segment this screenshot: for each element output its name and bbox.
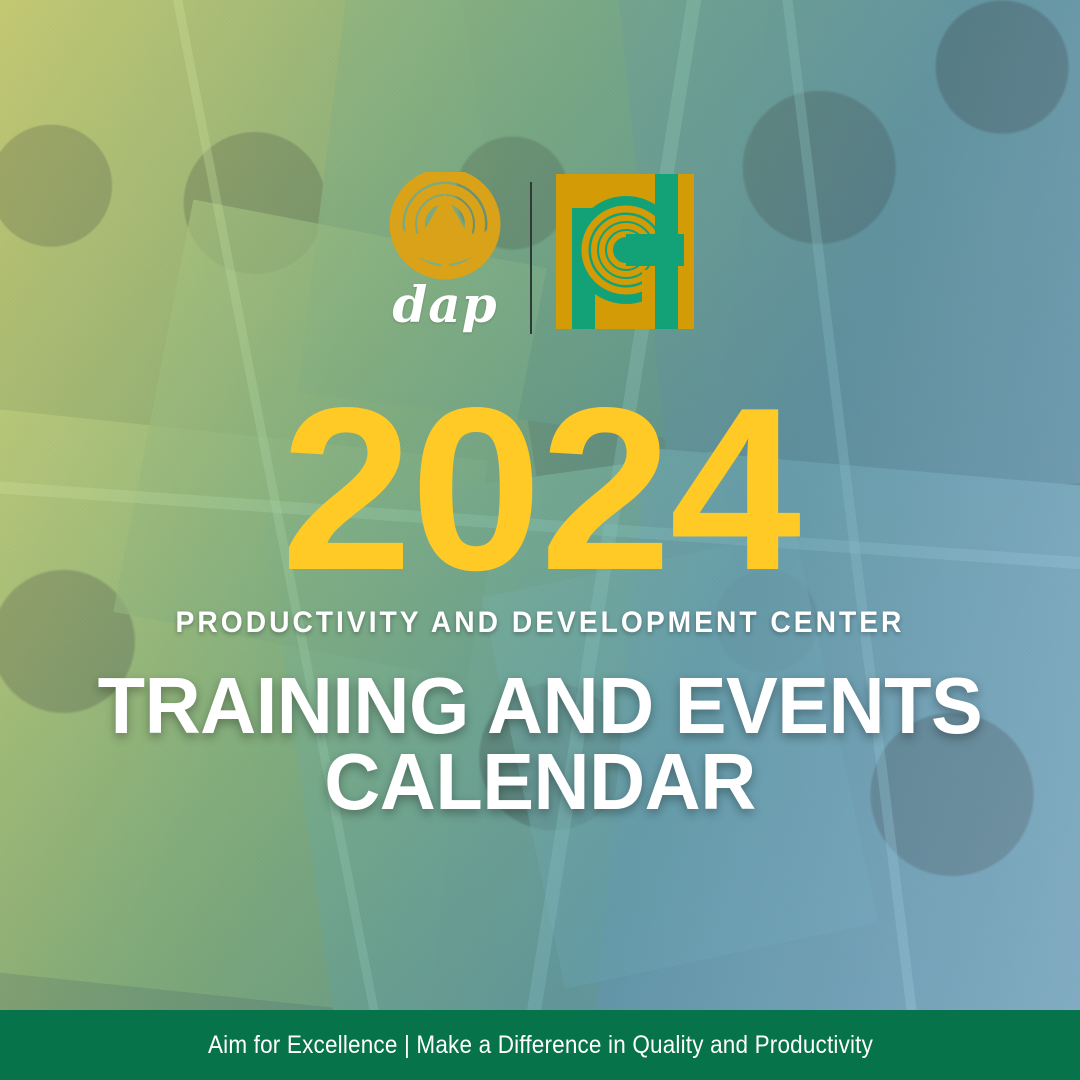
year-heading: 2024 (0, 374, 1080, 606)
pdc-logo (556, 174, 694, 329)
logo-divider (530, 182, 532, 334)
tagline-text: Aim for Excellence | Make a Difference i… (207, 1031, 872, 1060)
title-line-2: CALENDAR (16, 744, 1064, 820)
dap-wordmark: dap (392, 280, 497, 330)
footer-band: Aim for Excellence | Make a Difference i… (0, 1010, 1080, 1080)
logo-lockup: dap (0, 168, 1080, 334)
poster-canvas: dap (0, 0, 1080, 1080)
poster-content: dap (0, 0, 1080, 1080)
center-name-subtitle: PRODUCTIVITY AND DEVELOPMENT CENTER (32, 606, 1047, 640)
pdc-monogram-icon (556, 174, 694, 329)
dap-ripple-triangle-icon (386, 172, 504, 284)
dap-logo: dap (386, 172, 504, 330)
page-title: TRAINING AND EVENTS CALENDAR (16, 668, 1064, 820)
